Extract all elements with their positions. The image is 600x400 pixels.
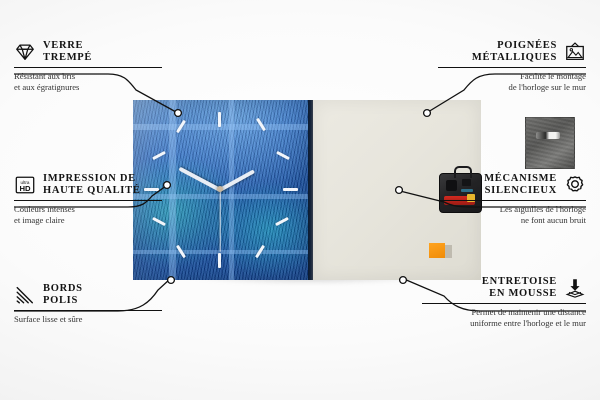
foam-spacer <box>429 243 445 258</box>
feature-rule <box>14 310 162 311</box>
feature-desc-line2: et image claire <box>14 215 164 226</box>
polished-edge-icon <box>14 284 36 306</box>
feature-title-line1: BORDS <box>43 283 83 295</box>
feature-title-line1: MÉCANISME <box>484 173 557 185</box>
feature-entretoise-mousse: ENTRETOISE EN MOUSSE Permet de maintenir… <box>420 276 586 328</box>
feature-impression-hd: ultra HD IMPRESSION DE HAUTE QUALITÉ Cou… <box>14 173 164 225</box>
feature-title-line1: IMPRESSION DE <box>43 173 141 185</box>
feature-desc-line1: Facilite le montage <box>436 71 586 82</box>
feature-bords-polis: BORDS POLIS Surface lisse et sûre <box>14 283 164 325</box>
feature-title-line2: SILENCIEUX <box>484 185 557 197</box>
foam-spacer-shadow <box>445 245 452 258</box>
feature-desc-line1: Couleurs intenses <box>14 204 164 215</box>
feature-heading: MÉCANISME SILENCIEUX <box>436 173 586 197</box>
feature-verre-trempe: VERRE TREMPÉ Résistant aux bris et aux é… <box>14 40 164 92</box>
feature-title-line2: HAUTE QUALITÉ <box>43 185 141 197</box>
feature-desc-line1: Surface lisse et sûre <box>14 314 164 325</box>
feature-desc-line2: ne font aucun bruit <box>436 215 586 226</box>
second-hand <box>219 190 220 252</box>
feature-desc-line1: Résistant aux bris <box>14 71 164 82</box>
feature-title-line2: POLIS <box>43 295 83 307</box>
feature-rule <box>438 200 586 201</box>
feature-rule <box>14 200 162 201</box>
feature-desc-line2: de l'horloge sur le mur <box>436 82 586 93</box>
foam-spacer-icon <box>564 277 586 299</box>
feature-title-line1: VERRE <box>43 40 92 52</box>
feature-heading: VERRE TREMPÉ <box>14 40 164 64</box>
feature-title-line2: TREMPÉ <box>43 52 92 64</box>
feature-heading: BORDS POLIS <box>14 283 164 307</box>
feature-heading: ultra HD IMPRESSION DE HAUTE QUALITÉ <box>14 173 164 197</box>
feature-heading: ENTRETOISE EN MOUSSE <box>420 276 586 300</box>
feature-desc-line1: Permet de maintenir une distance <box>420 307 586 318</box>
feature-desc-line2: et aux égratignures <box>14 82 164 93</box>
gear-icon <box>564 174 586 196</box>
product-photo <box>133 100 481 280</box>
hanger-slot <box>536 132 560 139</box>
feature-title-line2: MÉTALLIQUES <box>472 52 557 64</box>
feature-mecanisme-silencieux: MÉCANISME SILENCIEUX Les aiguilles de l'… <box>436 173 586 225</box>
infographic-canvas: VERRE TREMPÉ Résistant aux bris et aux é… <box>0 0 600 400</box>
hour-marker <box>218 253 221 268</box>
hanging-frame-icon <box>564 41 586 63</box>
feature-rule <box>438 67 586 68</box>
feature-title-line1: ENTRETOISE <box>482 276 557 288</box>
feature-rule <box>14 67 162 68</box>
hour-marker <box>283 188 298 191</box>
feature-desc-line2: uniforme entre l'horloge et le mur <box>420 318 586 329</box>
feature-title-line2: EN MOUSSE <box>482 288 557 300</box>
feature-desc-line1: Les aiguilles de l'horloge <box>436 204 586 215</box>
ultra-hd-icon: ultra HD <box>14 174 36 196</box>
feature-rule <box>422 303 586 304</box>
clock-hub <box>217 186 223 192</box>
feature-poignees-metalliques: POIGNÉES MÉTALLIQUES Facilite le montage… <box>436 40 586 92</box>
diamond-icon <box>14 41 36 63</box>
metal-hanger-plate <box>525 117 575 169</box>
feature-heading: POIGNÉES MÉTALLIQUES <box>436 40 586 64</box>
svg-text:HD: HD <box>19 184 31 193</box>
feature-title-line1: POIGNÉES <box>472 40 557 52</box>
hour-marker <box>218 112 221 127</box>
